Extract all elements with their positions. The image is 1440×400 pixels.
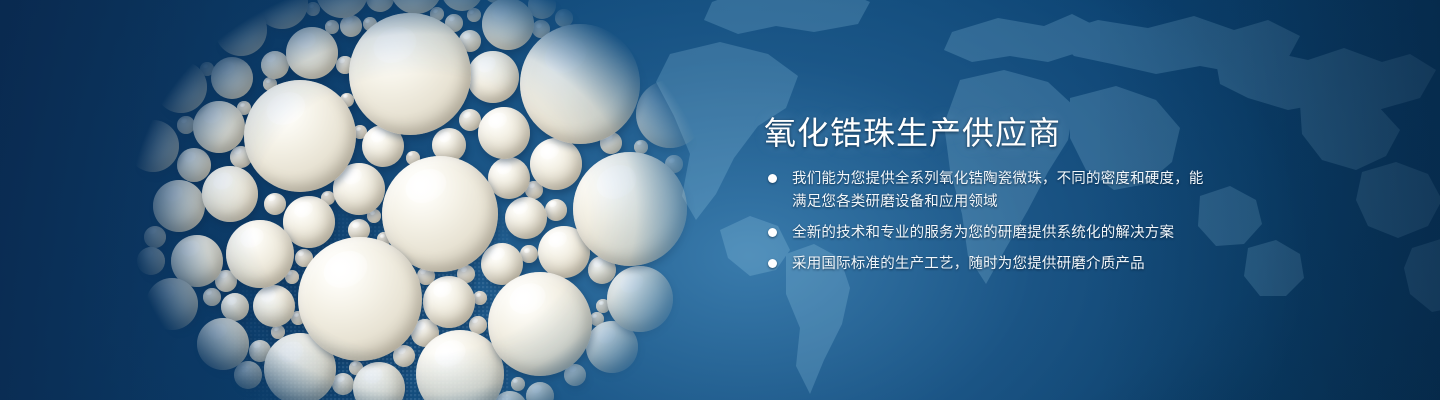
bullet-dot-icon bbox=[768, 228, 777, 237]
ceramic-bead bbox=[545, 199, 567, 221]
ceramic-bead bbox=[488, 272, 592, 376]
ceramic-bead bbox=[202, 166, 258, 222]
ceramic-bead bbox=[482, 0, 534, 50]
feature-bullet-text: 我们能为您提供全系列氧化锆陶瓷微珠，不同的密度和硬度，能满足您各类研磨设备和应用… bbox=[792, 168, 1212, 214]
ceramic-bead bbox=[505, 197, 547, 239]
ceramic-bead bbox=[511, 377, 525, 391]
ceramic-bead bbox=[197, 318, 249, 370]
ceramic-bead bbox=[526, 382, 554, 400]
feature-bullet-text: 采用国际标准的生产工艺，随时为您提供研磨介质产品 bbox=[792, 253, 1145, 276]
ceramic-bead bbox=[215, 4, 267, 56]
feature-bullet-item: 采用国际标准的生产工艺，随时为您提供研磨介质产品 bbox=[768, 253, 1212, 276]
ceramic-bead bbox=[366, 0, 394, 12]
ceramic-bead bbox=[467, 51, 519, 103]
hero-banner: 氧化锆珠生产供应商 我们能为您提供全系列氧化锆陶瓷微珠，不同的密度和硬度，能满足… bbox=[0, 0, 1440, 400]
ceramic-bead bbox=[636, 80, 704, 148]
banner-content: 氧化锆珠生产供应商 我们能为您提供全系列氧化锆陶瓷微珠，不同的密度和硬度，能满足… bbox=[764, 0, 1384, 400]
ceramic-bead bbox=[607, 266, 673, 332]
ceramic-bead bbox=[478, 107, 530, 159]
ceramic-bead bbox=[264, 193, 286, 215]
ceramic-bead bbox=[234, 361, 262, 389]
bullet-dot-icon bbox=[768, 174, 777, 183]
ceramic-bead bbox=[349, 13, 471, 135]
ceramic-bead bbox=[261, 51, 289, 79]
ceramic-bead bbox=[286, 27, 338, 79]
ceramic-bead bbox=[153, 180, 205, 232]
ceramic-bead bbox=[144, 226, 166, 248]
ceramic-bead bbox=[244, 80, 356, 192]
feature-bullet-item: 我们能为您提供全系列氧化锆陶瓷微珠，不同的密度和硬度，能满足您各类研磨设备和应用… bbox=[768, 168, 1212, 214]
ceramic-bead bbox=[177, 148, 211, 182]
ceramic-bead bbox=[253, 285, 295, 327]
ceramic-bead bbox=[155, 61, 207, 113]
ceramic-bead bbox=[520, 24, 640, 144]
ceramic-bead bbox=[316, 0, 368, 18]
ceramic-bead bbox=[226, 220, 294, 288]
ceramic-bead bbox=[306, 2, 320, 16]
ceramic-bead bbox=[332, 373, 354, 395]
feature-bullet-text: 全新的技术和专业的服务为您的研磨提供系统化的解决方案 bbox=[792, 222, 1174, 245]
ceramic-bead bbox=[221, 293, 249, 321]
ceramic-bead bbox=[467, 8, 481, 22]
ceramic-bead bbox=[423, 276, 475, 328]
ceramic-bead bbox=[488, 157, 530, 199]
ceramic-bead bbox=[298, 237, 422, 361]
feature-bullet-item: 全新的技术和专业的服务为您的研磨提供系统化的解决方案 bbox=[768, 222, 1212, 245]
banner-headline: 氧化锆珠生产供应商 bbox=[764, 108, 1061, 154]
ceramic-bead bbox=[203, 288, 221, 306]
ceramic-bead bbox=[459, 109, 481, 131]
bullet-dot-icon bbox=[768, 259, 777, 268]
ceramic-bead bbox=[193, 101, 245, 153]
ceramic-bead bbox=[146, 278, 198, 330]
ceramic-bead bbox=[340, 15, 362, 37]
ceramic-bead bbox=[353, 362, 405, 400]
zirconia-bead-photo bbox=[110, 0, 730, 400]
ceramic-bead bbox=[211, 57, 253, 99]
ceramic-bead bbox=[573, 152, 687, 266]
ceramic-bead bbox=[127, 120, 179, 172]
feature-bullet-list: 我们能为您提供全系列氧化锆陶瓷微珠，不同的密度和硬度，能满足您各类研磨设备和应用… bbox=[768, 168, 1212, 284]
ceramic-bead bbox=[530, 138, 582, 190]
ceramic-bead bbox=[137, 247, 165, 275]
